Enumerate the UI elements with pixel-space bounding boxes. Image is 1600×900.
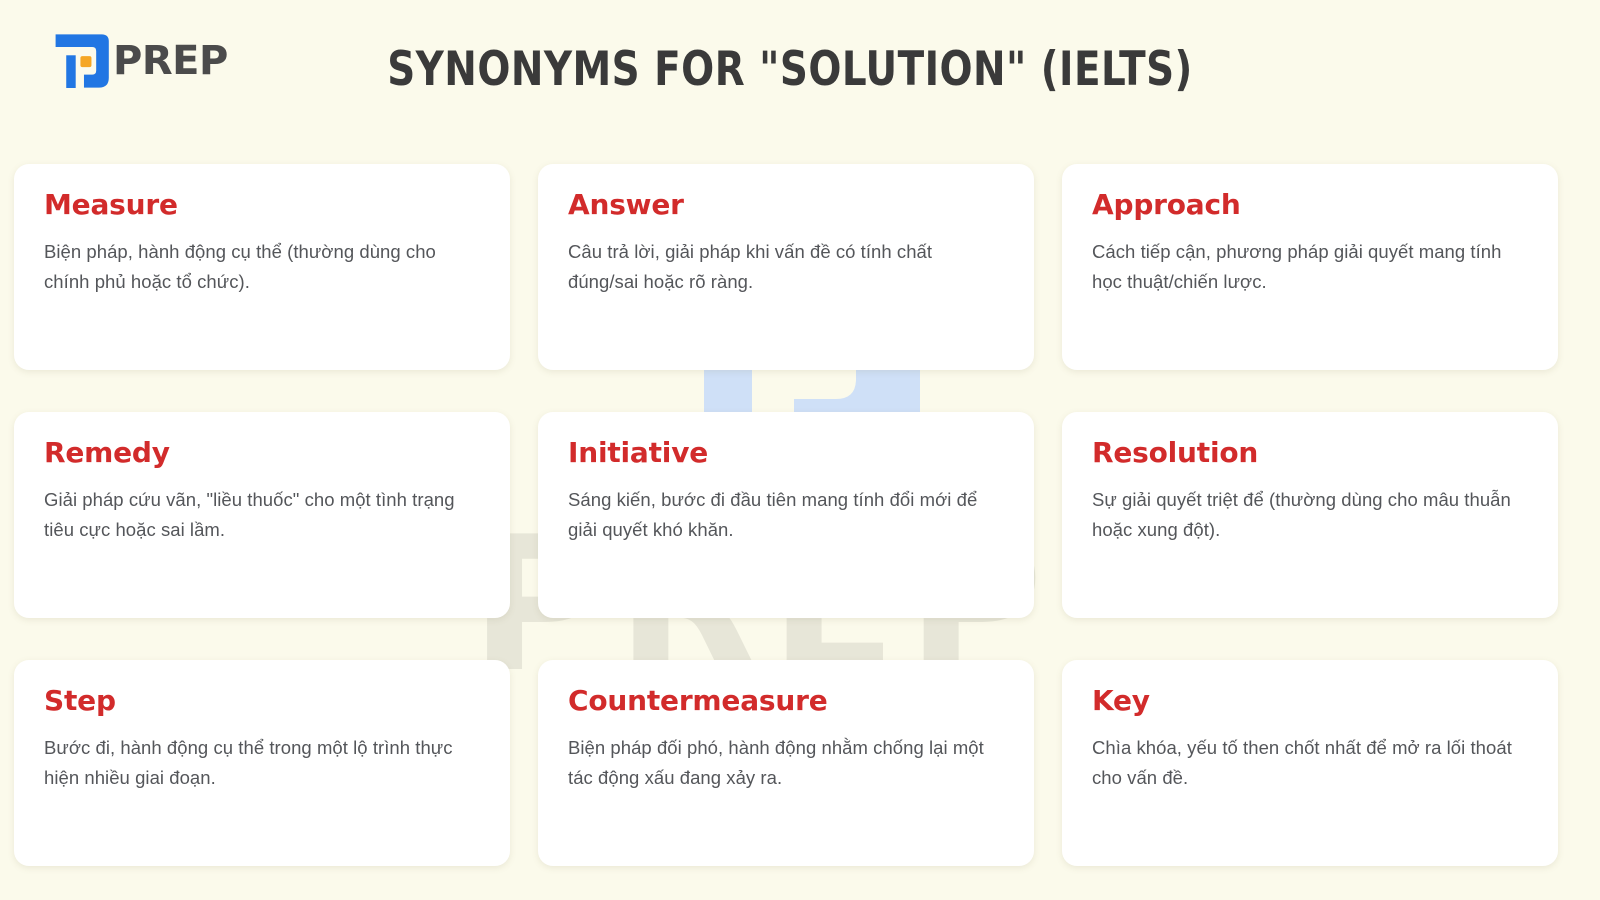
synonym-card: Remedy Giải pháp cứu vãn, "liều thuốc" c… bbox=[14, 412, 510, 618]
page-header: PREP SYNONYMS FOR "SOLUTION" (IELTS) bbox=[0, 0, 1600, 150]
synonym-card: Measure Biện pháp, hành động cụ thể (thư… bbox=[14, 164, 510, 370]
synonym-description: Sự giải quyết triệt để (thường dùng cho … bbox=[1092, 485, 1528, 545]
page-title: SYNONYMS FOR "SOLUTION" (IELTS) bbox=[376, 44, 1204, 96]
brand-wordmark: PREP bbox=[113, 41, 228, 81]
synonym-description: Bước đi, hành động cụ thể trong một lộ t… bbox=[44, 733, 480, 793]
synonym-description: Biện pháp, hành động cụ thể (thường dùng… bbox=[44, 237, 480, 297]
synonym-description: Câu trả lời, giải pháp khi vấn đề có tín… bbox=[568, 237, 1004, 297]
synonym-card: Step Bước đi, hành động cụ thể trong một… bbox=[14, 660, 510, 866]
synonym-term: Approach bbox=[1092, 190, 1528, 221]
synonym-term: Countermeasure bbox=[568, 686, 1004, 717]
synonym-term: Remedy bbox=[44, 438, 480, 469]
prep-bracket-logo-icon bbox=[55, 34, 109, 88]
synonym-card: Answer Câu trả lời, giải pháp khi vấn đề… bbox=[538, 164, 1034, 370]
synonym-card-grid: Measure Biện pháp, hành động cụ thể (thư… bbox=[14, 164, 1559, 866]
synonym-card: Countermeasure Biện pháp đối phó, hành đ… bbox=[538, 660, 1034, 866]
synonym-card: Resolution Sự giải quyết triệt để (thườn… bbox=[1062, 412, 1558, 618]
synonym-description: Cách tiếp cận, phương pháp giải quyết ma… bbox=[1092, 237, 1528, 297]
synonym-term: Measure bbox=[44, 190, 480, 221]
synonym-term: Resolution bbox=[1092, 438, 1528, 469]
brand-logo: PREP bbox=[55, 34, 228, 88]
synonym-term: Step bbox=[44, 686, 480, 717]
synonym-term: Key bbox=[1092, 686, 1528, 717]
synonym-description: Chìa khóa, yếu tố then chốt nhất để mở r… bbox=[1092, 733, 1528, 793]
synonym-card: Key Chìa khóa, yếu tố then chốt nhất để … bbox=[1062, 660, 1558, 866]
synonym-card: Approach Cách tiếp cận, phương pháp giải… bbox=[1062, 164, 1558, 370]
synonym-term: Initiative bbox=[568, 438, 1004, 469]
synonym-description: Biện pháp đối phó, hành động nhằm chống … bbox=[568, 733, 1004, 793]
synonym-card: Initiative Sáng kiến, bước đi đầu tiên m… bbox=[538, 412, 1034, 618]
synonym-description: Sáng kiến, bước đi đầu tiên mang tính đổ… bbox=[568, 485, 1004, 545]
synonym-description: Giải pháp cứu vãn, "liều thuốc" cho một … bbox=[44, 485, 480, 545]
synonym-term: Answer bbox=[568, 190, 1004, 221]
